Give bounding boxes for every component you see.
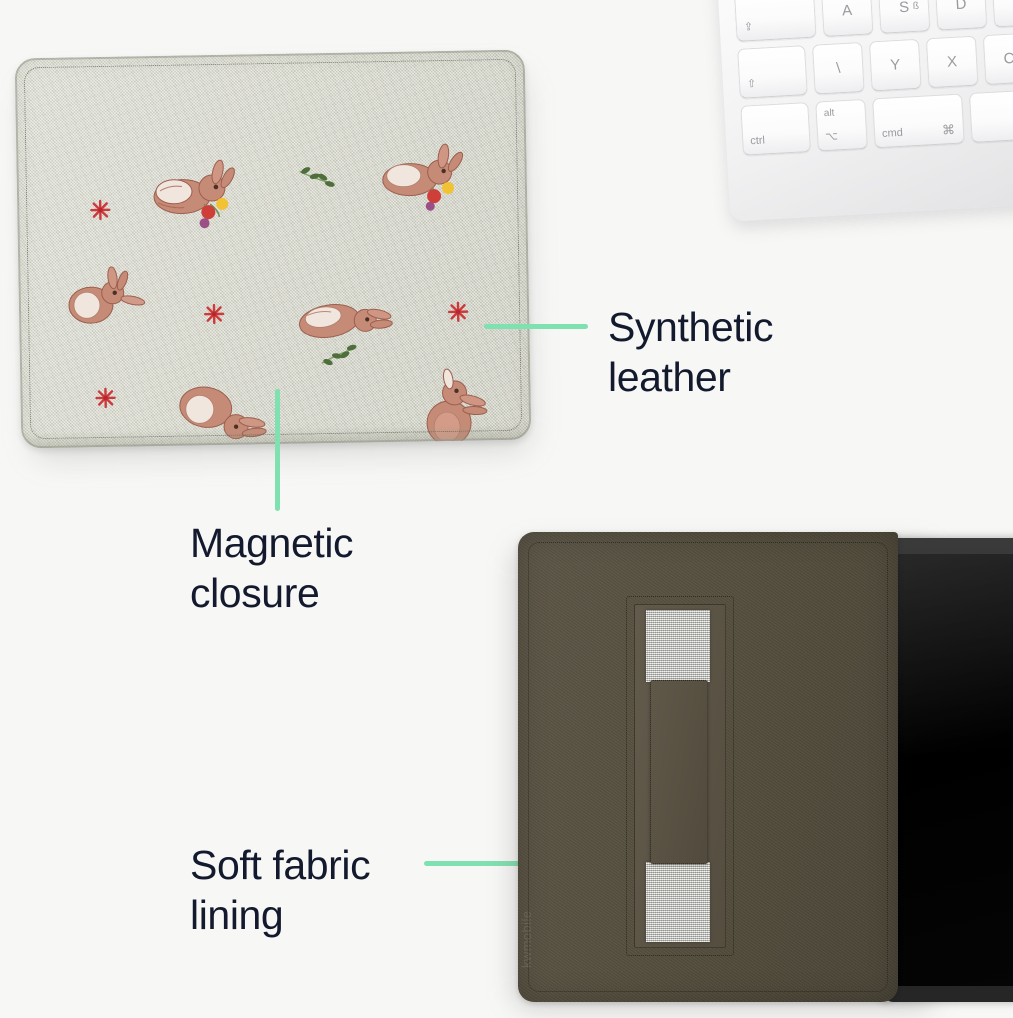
key-label: S <box>880 0 929 16</box>
key-capslock[interactable]: ⇪ <box>734 0 817 42</box>
leader-line-magnetic-closure <box>275 389 280 511</box>
case-cover <box>15 50 532 449</box>
key-label: A <box>823 2 872 20</box>
keyboard-rows: ⇥⇪ASßD⇧\YXCctrl⌥altcmd⌘ <box>731 0 1013 163</box>
key-less[interactable]: \ <box>812 42 865 95</box>
key-alt[interactable]: ⌥alt <box>815 99 868 152</box>
flower-motif <box>203 303 225 325</box>
keyboard-row: ⇧\YXC <box>737 30 1013 98</box>
flower-motif <box>447 301 469 323</box>
key-sublabel: ß <box>913 2 920 12</box>
magic-keyboard: ⇥⇪ASßD⇧\YXCctrl⌥altcmd⌘ <box>714 0 1013 222</box>
cover-surface <box>15 50 532 449</box>
keyboard-row: ctrl⌥altcmd⌘ <box>740 87 1013 155</box>
brand-logo: kwmobile <box>519 911 534 968</box>
key-label: cmd <box>882 128 903 140</box>
flower-motif <box>89 199 111 221</box>
key-label: ctrl <box>750 136 765 148</box>
key-s[interactable]: Sß <box>878 0 931 34</box>
callout-synthetic-leather: Synthetic leather <box>608 302 773 402</box>
key-label: C <box>985 50 1013 68</box>
leader-line-synthetic-leather <box>484 324 588 329</box>
callout-soft-fabric-lining: Soft fabric lining <box>190 840 370 940</box>
callout-magnetic-closure: Magnetic closure <box>190 518 353 618</box>
key-cmd[interactable]: cmd⌘ <box>872 93 965 148</box>
strap-tab <box>650 680 708 864</box>
case-interior-panel: kwmobile <box>518 532 898 1002</box>
elastic-hand-strap <box>646 610 710 682</box>
elastic-hand-strap <box>646 862 710 942</box>
tablet-screen <box>894 554 1013 986</box>
key-shift[interactable]: ⇧ <box>737 45 808 99</box>
rabbit-motif <box>141 160 242 228</box>
key-c[interactable]: C <box>983 32 1013 85</box>
screen-gloss <box>894 554 1013 753</box>
leaf-sprig-motif <box>297 165 337 192</box>
key-label: D <box>937 0 986 13</box>
key-label: X <box>928 53 977 71</box>
rabbit-motif <box>165 376 274 448</box>
key-cornerlabel: ⌘ <box>942 123 956 137</box>
key-label: Y <box>871 56 920 74</box>
key-a[interactable]: A <box>821 0 874 37</box>
rabbit-motif <box>56 268 149 332</box>
rabbit-motif <box>371 146 472 214</box>
key-label: ⇧ <box>747 79 757 90</box>
rabbit-motif <box>408 370 509 449</box>
key-toplabel: alt <box>824 109 835 120</box>
key-x[interactable]: X <box>926 36 979 89</box>
key-d[interactable]: D <box>935 0 988 31</box>
product-infographic: ⇥⇪ASßD⇧\YXCctrl⌥altcmd⌘ <box>0 0 1013 1018</box>
tablet-device <box>880 538 1013 1002</box>
leaf-sprig-motif <box>318 343 358 370</box>
key-label: ⇪ <box>744 22 754 33</box>
key-label: \ <box>814 59 863 77</box>
key-ctrl[interactable]: ctrl <box>740 102 811 156</box>
key-space[interactable] <box>969 88 1013 143</box>
open-case: kwmobile <box>512 532 1013 1002</box>
key-f[interactable] <box>992 0 1013 28</box>
flower-motif <box>94 387 116 409</box>
key-label: ⌥ <box>825 131 838 143</box>
key-y[interactable]: Y <box>869 39 922 92</box>
